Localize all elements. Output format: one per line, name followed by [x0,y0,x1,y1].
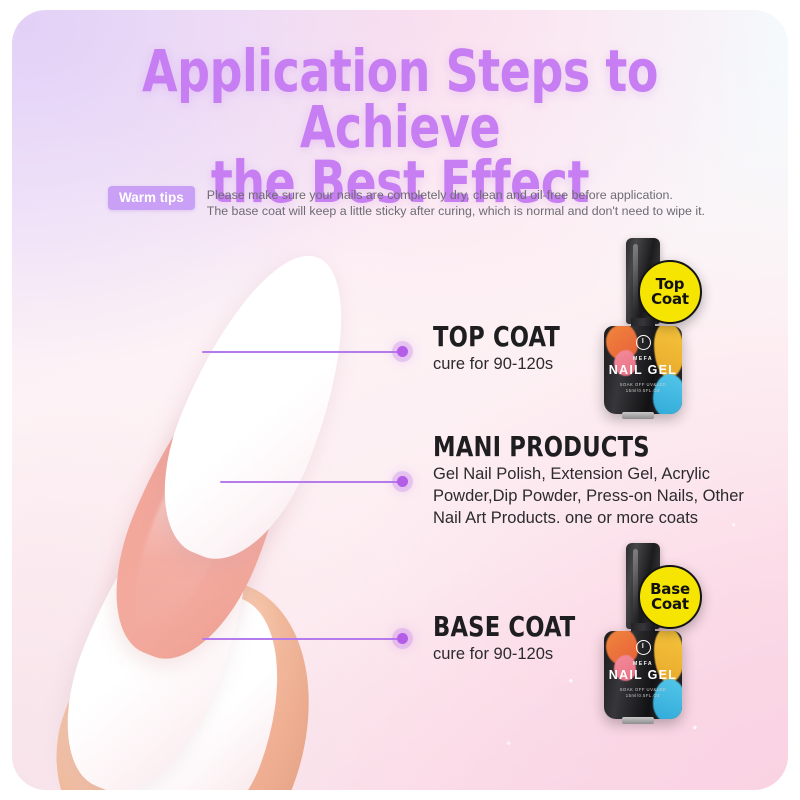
bottle-body: MEFA NAIL GEL SOAK OFF UV&LED 15ml/0.5FL… [604,326,682,414]
callout-heading-mani-products: MANI PRODUCTS [433,433,721,461]
connector-dot-base-coat [397,633,408,644]
product-bottle-base-coat: MEFA NAIL GEL SOAK OFF UV&LED 15ml/0.5FL… [582,543,702,723]
pastel-card: Application Steps to Achieve the Best Ef… [12,10,788,790]
callout-mani-products: MANI PRODUCTS Gel Nail Polish, Extension… [433,433,753,530]
brand-name: MEFA [604,356,682,362]
connector-line-base-coat [202,638,402,640]
badge-text-base-coat: BaseCoat [650,582,690,613]
badge-top-coat: TopCoat [638,260,702,324]
fine-print-line-2: 15ml/0.5FL.OZ [604,388,682,394]
warm-tips-line-1: Please make sure your nails are complete… [207,187,705,203]
bottle-base [622,717,654,724]
infographic-root: Application Steps to Achieve the Best Ef… [0,0,800,800]
nail-layer-illustration [72,238,422,790]
fine-print-line-2: 15ml/0.5FL.OZ [604,693,682,699]
badge-line-2: Coat [651,290,689,308]
warm-tips: Warm tips Please make sure your nails ar… [108,186,728,220]
product-name-label: NAIL GEL [604,363,682,377]
connector-line-mani [220,481,402,483]
callout-heading-base-coat: BASE COAT [433,613,591,641]
callout-heading-top-coat: TOP COAT [433,323,591,351]
warm-tips-text: Please make sure your nails are complete… [207,186,705,220]
top-coat-layer [135,232,381,580]
brand-logo: MEFA [604,640,682,667]
warm-tips-badge: Warm tips [108,186,195,210]
badge-line-2: Coat [651,595,689,613]
product-bottle-top-coat: MEFA NAIL GEL SOAK OFF UV&LED 15ml/0.5FL… [582,238,702,418]
badge-base-coat: BaseCoat [638,565,702,629]
brand-mark-icon [636,335,651,350]
bottle-body: MEFA NAIL GEL SOAK OFF UV&LED 15ml/0.5FL… [604,631,682,719]
title-line-1: Application Steps to Achieve [142,37,658,161]
badge-text-top-coat: TopCoat [651,277,689,308]
connector-dot-mani [397,476,408,487]
brand-logo: MEFA [604,335,682,362]
callout-body-mani-products: Gel Nail Polish, Extension Gel, Acrylic … [433,464,753,530]
brand-name: MEFA [604,661,682,667]
bottle-base [622,412,654,419]
brand-mark-icon [636,640,651,655]
connector-dot-top-coat [397,346,408,357]
bottle-fine-print: SOAK OFF UV&LED 15ml/0.5FL.OZ [604,687,682,700]
bottle-fine-print: SOAK OFF UV&LED 15ml/0.5FL.OZ [604,382,682,395]
product-name-label: NAIL GEL [604,668,682,682]
warm-tips-line-2: The base coat will keep a little sticky … [207,203,705,219]
connector-line-top-coat [202,351,402,353]
